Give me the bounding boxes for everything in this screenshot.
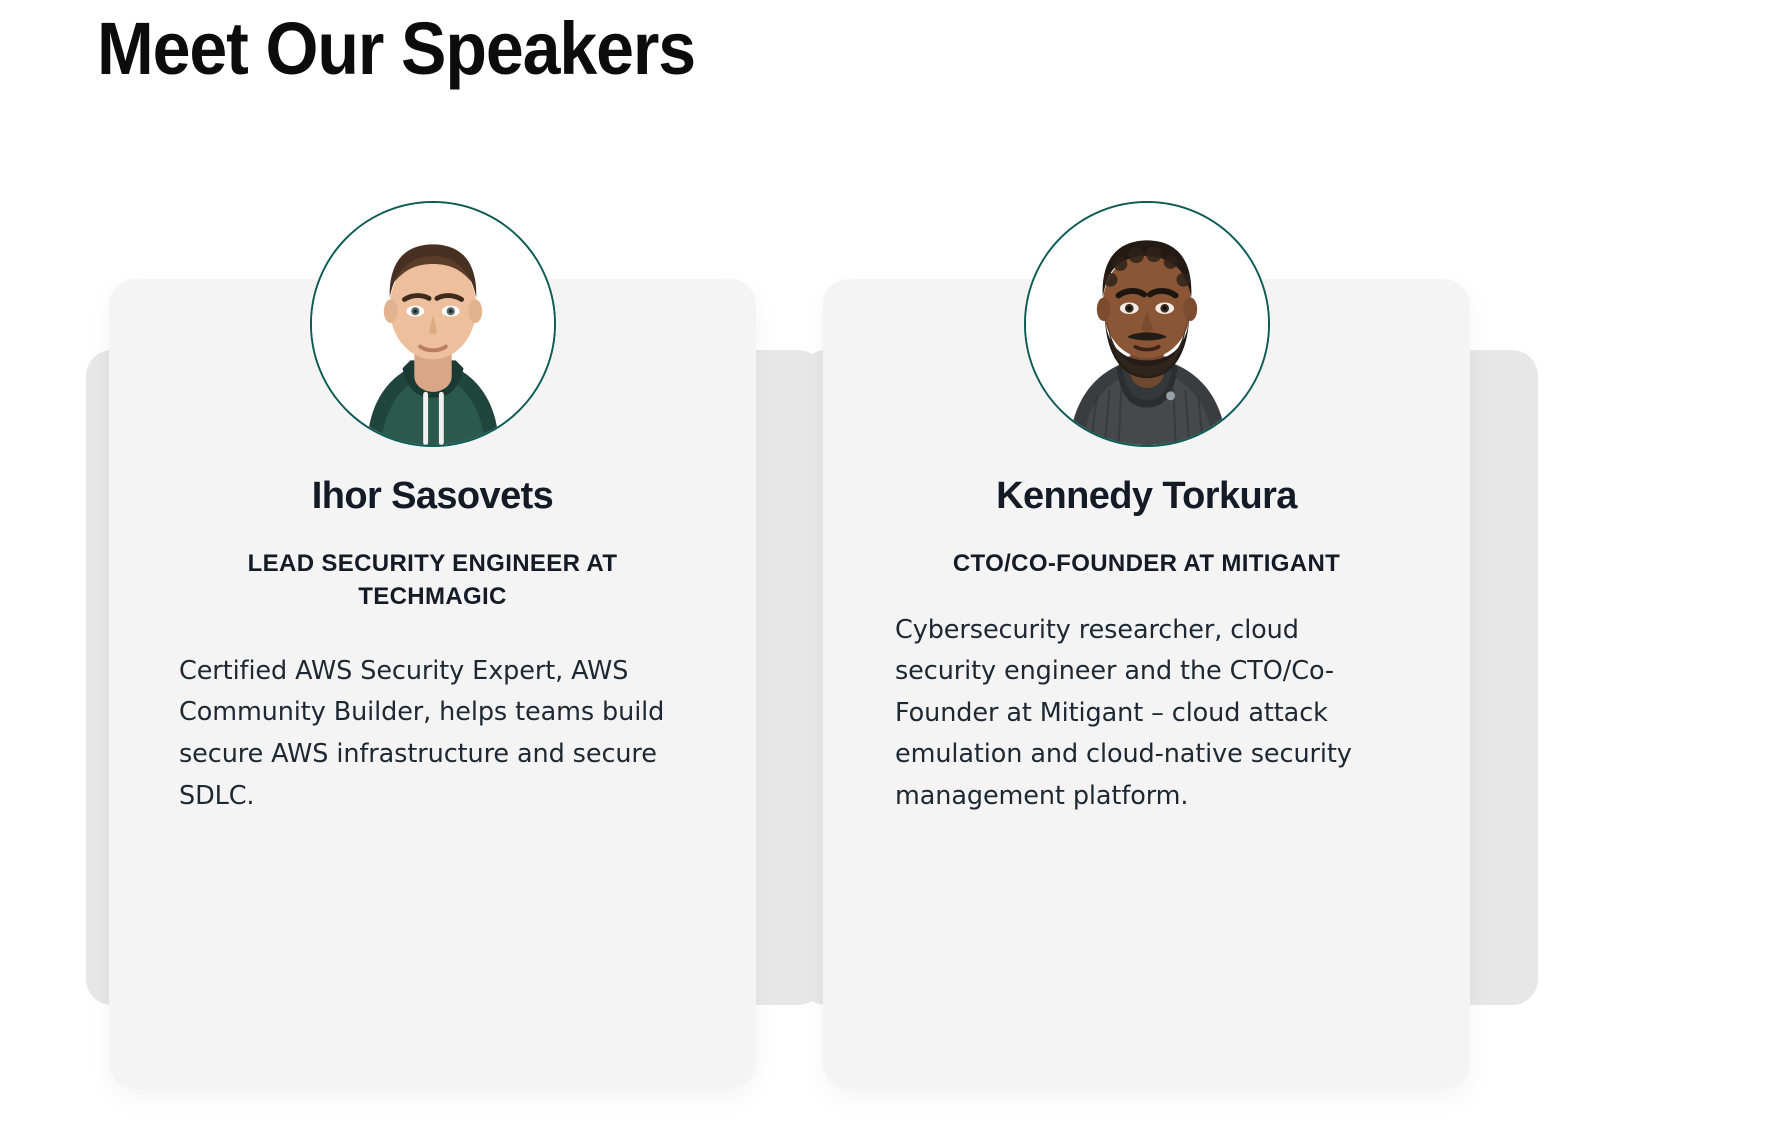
- speaker-portrait-ihor-sasovets-avatar: [310, 201, 556, 447]
- speaker-name: Kennedy Torkura: [869, 475, 1424, 519]
- speaker-bio: Certified AWS Security Expert, AWS Commu…: [155, 651, 710, 817]
- speaker-name: Ihor Sasovets: [155, 475, 710, 519]
- speaker-bio: Cybersecurity researcher, cloud security…: [869, 610, 1424, 818]
- speaker-info: Kennedy Torkura CTO/CO-FOUNDER AT MITIGA…: [823, 475, 1470, 818]
- speaker-info: Ihor Sasovets LEAD SECURITY ENGINEER AT …: [109, 475, 756, 817]
- speaker-card-front[interactable]: Ihor Sasovets LEAD SECURITY ENGINEER AT …: [109, 279, 756, 1089]
- speaker-portrait-kennedy-torkura-avatar: [1024, 201, 1270, 447]
- speaker-role: LEAD SECURITY ENGINEER AT TECHMAGIC: [155, 547, 710, 613]
- speaker-card: Kennedy Torkura CTO/CO-FOUNDER AT MITIGA…: [800, 279, 1538, 1091]
- speaker-card: Ihor Sasovets LEAD SECURITY ENGINEER AT …: [86, 279, 824, 1091]
- speakers-grid: Ihor Sasovets LEAD SECURITY ENGINEER AT …: [0, 0, 1778, 1126]
- speaker-card-front[interactable]: Kennedy Torkura CTO/CO-FOUNDER AT MITIGA…: [823, 279, 1470, 1089]
- speaker-role: CTO/CO-FOUNDER AT MITIGANT: [869, 547, 1424, 580]
